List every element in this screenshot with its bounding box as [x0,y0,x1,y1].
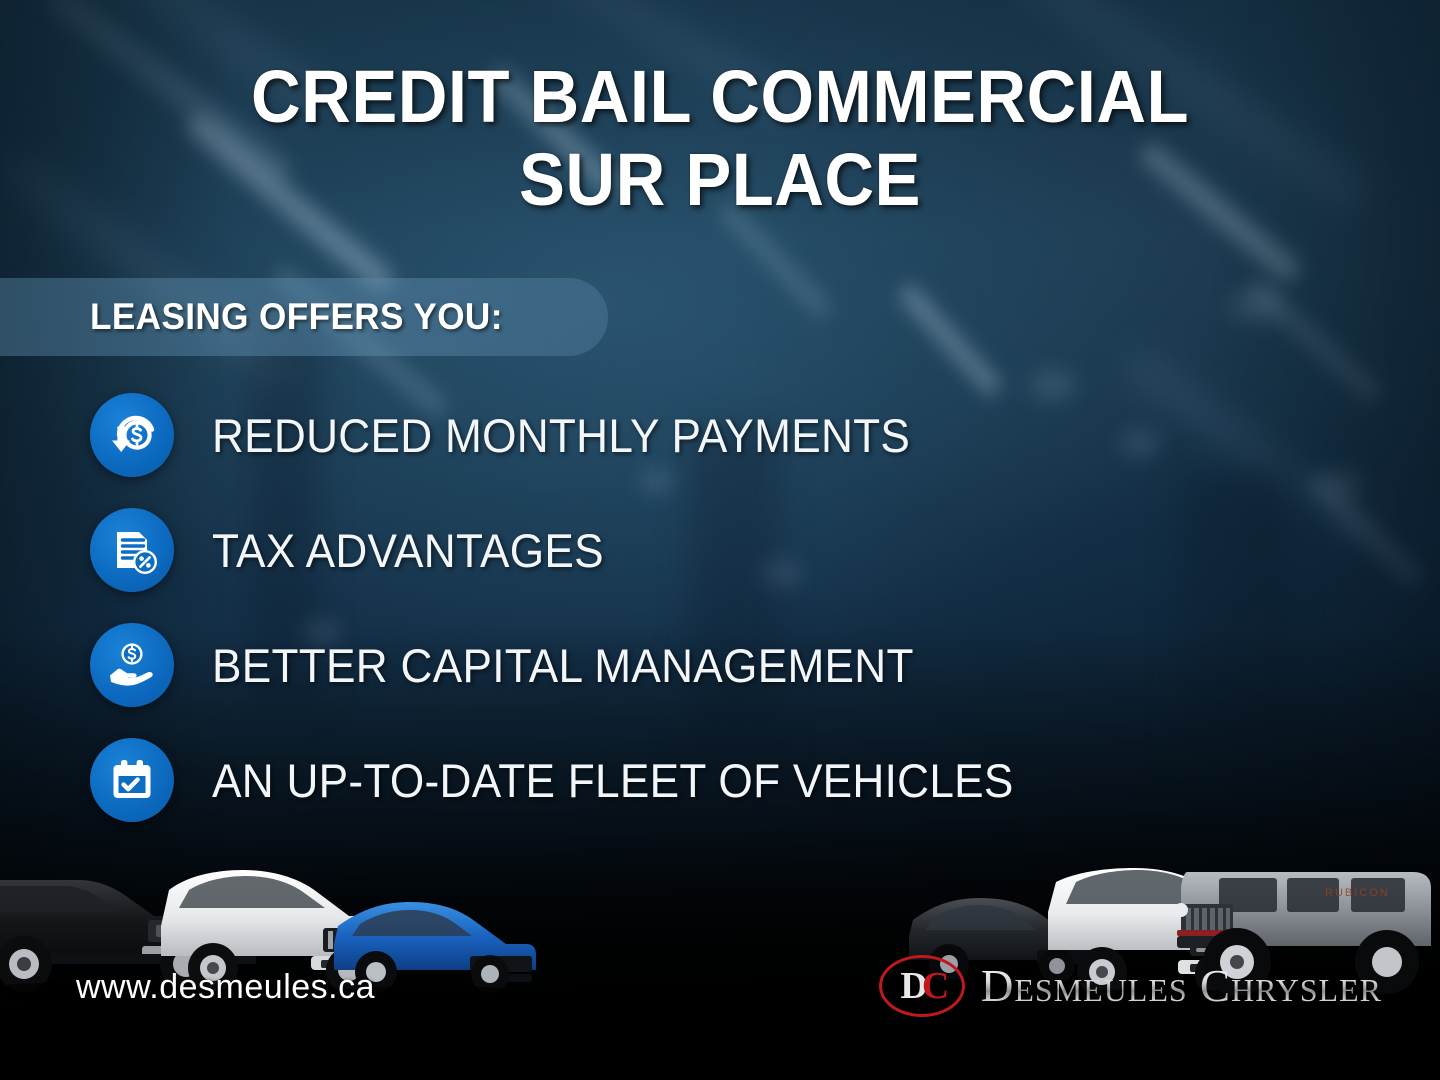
vehicle-lineup: RAM [0,800,1440,1080]
page-title: CREDIT BAIL COMMERCIAL SUR PLACE [50,56,1389,222]
document-percent-icon [90,508,174,592]
benefit-label: TAX ADVANTAGES [212,523,604,578]
leasing-offers-banner: LEASING OFFERS YOU: [0,278,608,356]
benefit-item: REDUCED MONTHLY PAYMENTS [90,385,1290,485]
website-url[interactable]: www.desmeules.ca [76,968,375,1007]
benefits-list: REDUCED MONTHLY PAYMENTS TAX ADVANTAGES [90,385,1290,845]
logo-wordmark: Desmeules Chrysler [981,960,1382,1012]
banner-label: LEASING OFFERS YOU: [90,296,503,338]
desmeules-chrysler-logo[interactable]: DC Desmeules Chrysler [879,955,1382,1017]
money-down-arrow-icon [90,393,174,477]
monogram-letter-c: C [922,964,943,1008]
benefit-item: BETTER CAPITAL MANAGEMENT [90,615,1290,715]
promotional-slide: CREDIT BAIL COMMERCIAL SUR PLACE LEASING… [0,0,1440,1080]
benefit-label: BETTER CAPITAL MANAGEMENT [212,638,914,693]
svg-text:RUBICON: RUBICON [1325,887,1390,899]
benefit-item: TAX ADVANTAGES [90,500,1290,600]
dc-monogram-icon: DC [879,955,965,1017]
monogram-letter-d: D [900,964,921,1008]
hand-holding-coin-icon [90,623,174,707]
benefit-label: REDUCED MONTHLY PAYMENTS [212,408,910,463]
